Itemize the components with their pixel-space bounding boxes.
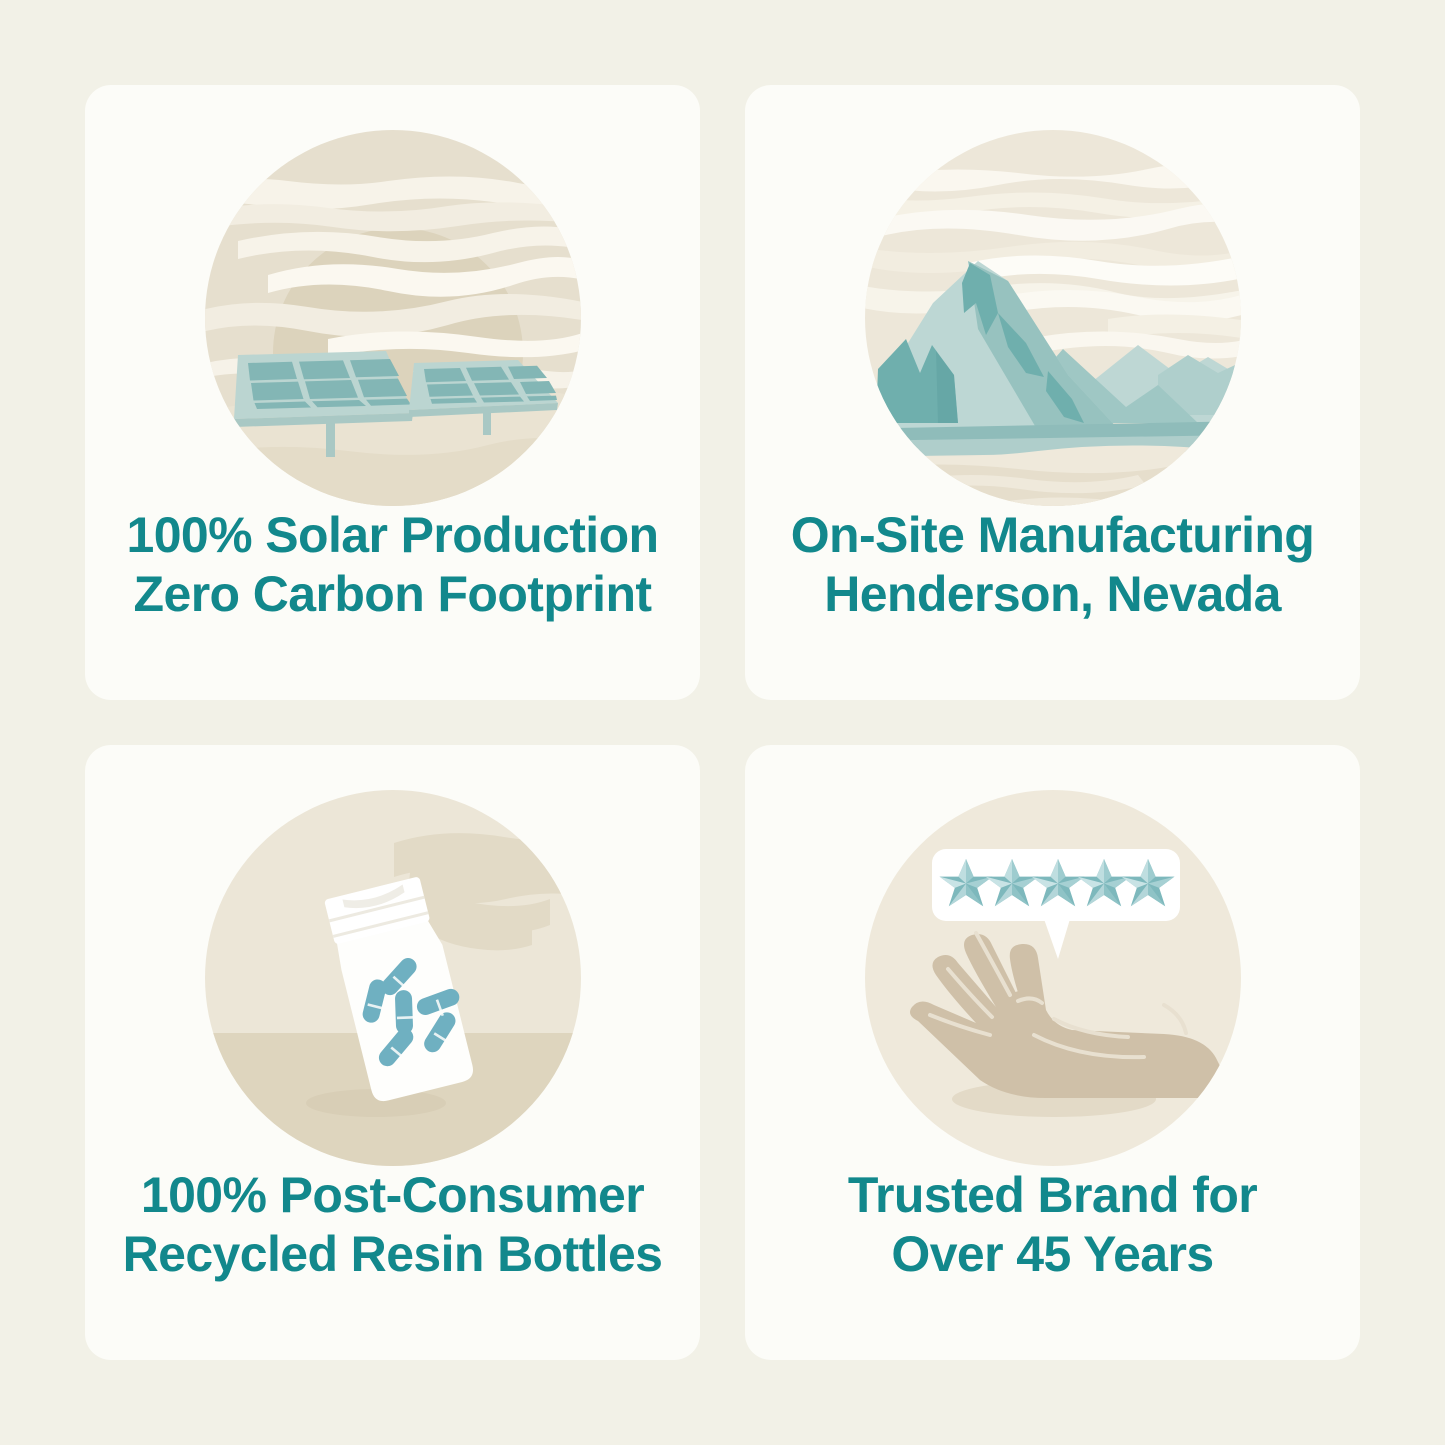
benefit-caption: 100% Post-Consumer Recycled Resin Bottle… [85,1166,700,1284]
benefits-grid: 100% Solar Production Zero Carbon Footpr… [85,85,1360,1360]
caption-line-2: Over 45 Years [763,1225,1342,1284]
caption-line-1: 100% Solar Production [127,507,659,563]
caption-line-2: Henderson, Nevada [763,565,1342,624]
mountain-landscape-illustration [858,123,1248,513]
benefit-caption: 100% Solar Production Zero Carbon Footpr… [85,506,700,624]
benefit-caption: Trusted Brand for Over 45 Years [745,1166,1360,1284]
benefit-card-solar-production: 100% Solar Production Zero Carbon Footpr… [85,85,700,700]
benefit-card-on-site-manufacturing: On-Site Manufacturing Henderson, Nevada [745,85,1360,700]
recycled-bottle-illustration [198,783,588,1173]
caption-line-2: Recycled Resin Bottles [103,1225,682,1284]
benefit-caption: On-Site Manufacturing Henderson, Nevada [745,506,1360,624]
solar-panels-illustration [198,123,588,513]
caption-line-1: On-Site Manufacturing [791,507,1315,563]
benefit-card-trusted-brand: Trusted Brand for Over 45 Years [745,745,1360,1360]
benefit-card-post-consumer-resin: 100% Post-Consumer Recycled Resin Bottle… [85,745,700,1360]
caption-line-2: Zero Carbon Footprint [103,565,682,624]
hand-with-star-rating-illustration [858,783,1248,1173]
caption-line-1: 100% Post-Consumer [141,1167,644,1223]
caption-line-1: Trusted Brand for [848,1167,1257,1223]
